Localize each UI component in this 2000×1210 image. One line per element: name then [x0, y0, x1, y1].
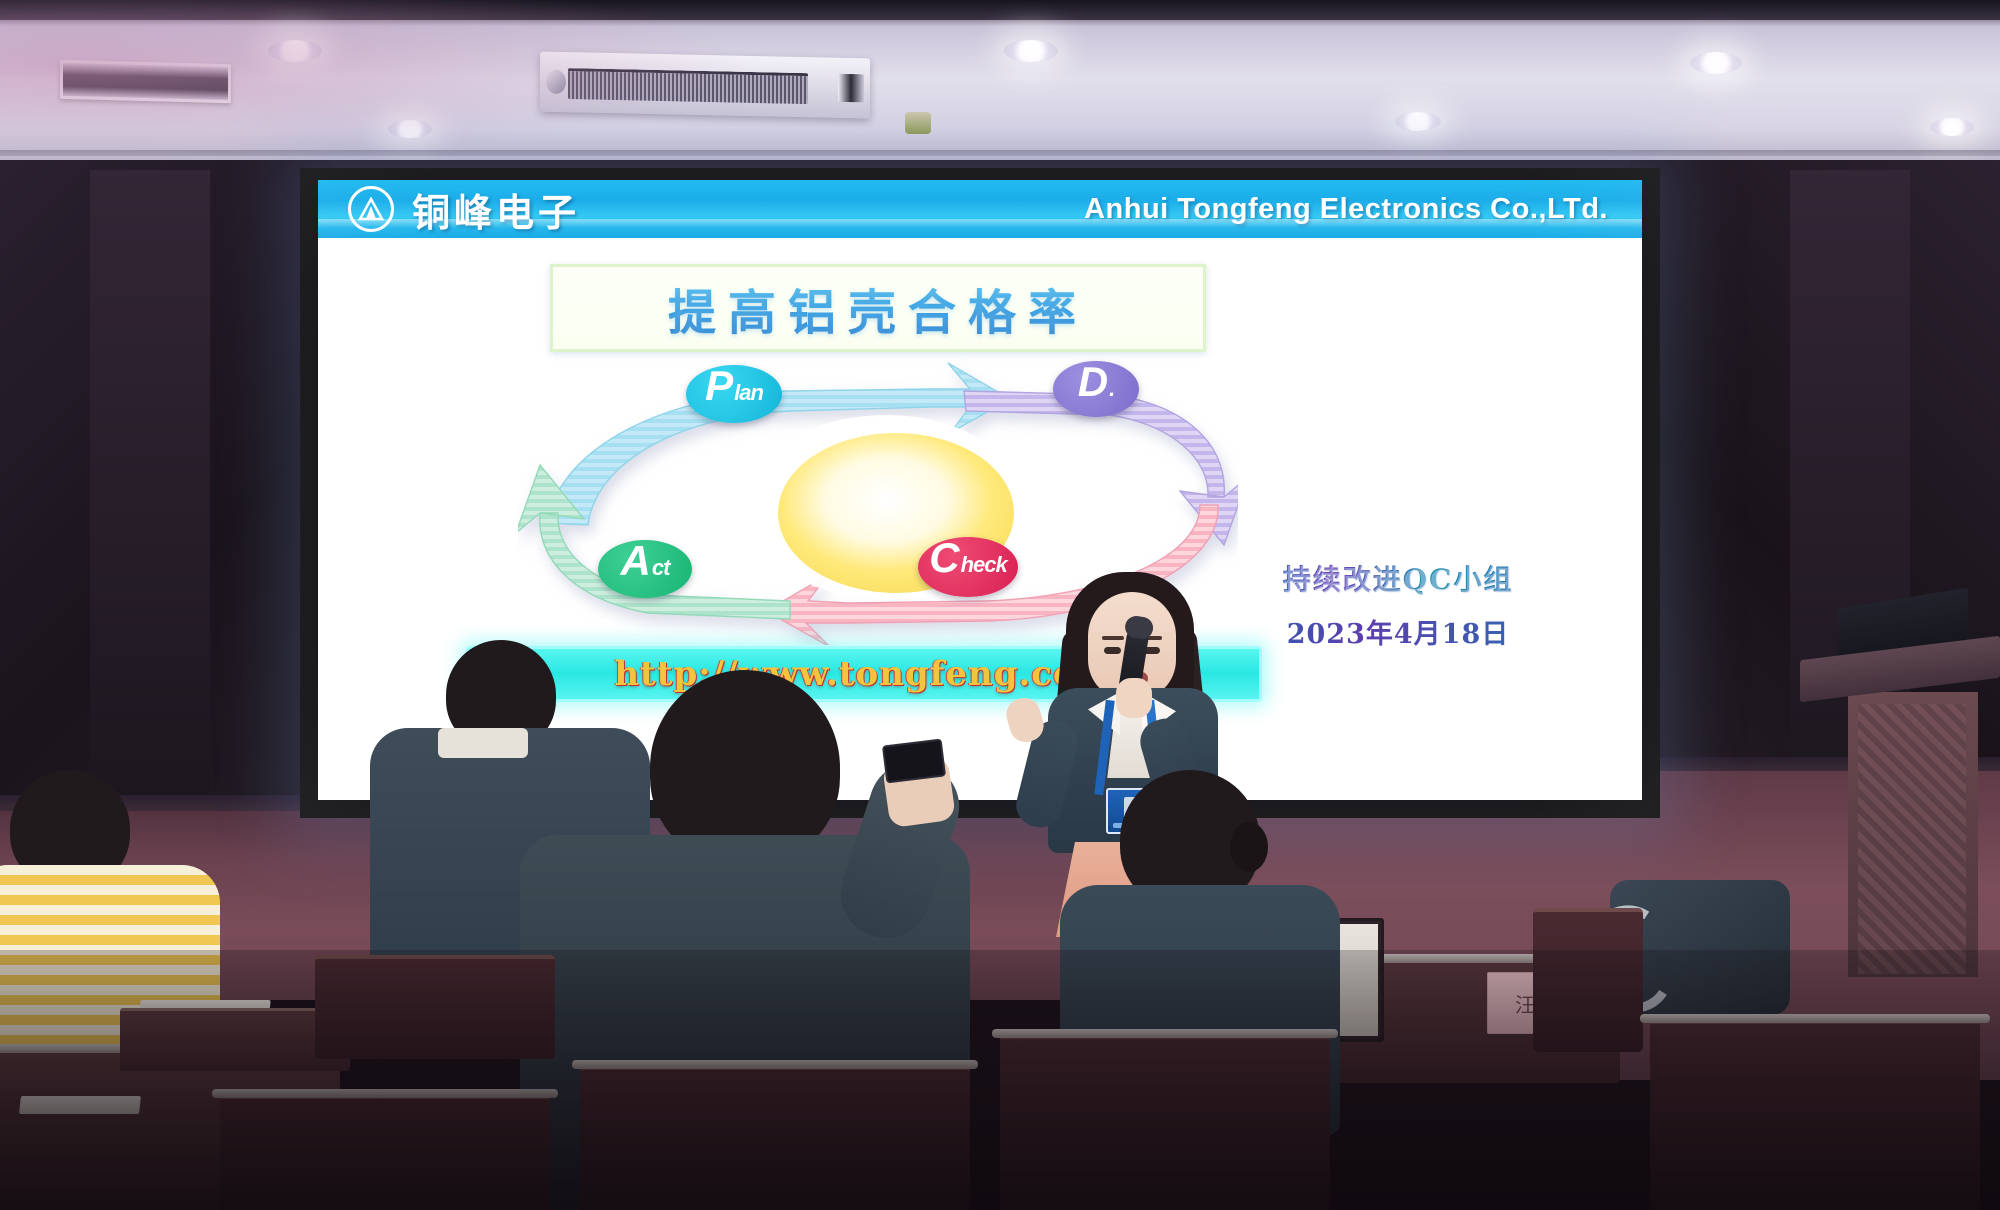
- seat-edge-front-right: [992, 1029, 1338, 1038]
- attendee-hair-tie: [1230, 822, 1268, 872]
- pdca-badge-check: C heck: [918, 537, 1018, 597]
- downlight-1: [268, 40, 322, 62]
- pdca-badge-do-letter: D: [1078, 361, 1108, 403]
- pdca-badge-act: A ct: [598, 540, 692, 598]
- downlight-5: [1690, 52, 1742, 74]
- seat-back-right-1: [1533, 908, 1643, 1052]
- seat-edge-front-center: [572, 1060, 978, 1069]
- downlight-4: [1395, 112, 1441, 131]
- presentation-photo-scene: 铜峰电子 Anhui Tongfeng Electronics Co.,LTd.…: [0, 0, 2000, 1210]
- smoke-detector: [905, 112, 931, 134]
- presenter-hand-right: [1116, 678, 1152, 718]
- pdca-badge-plan: P lan: [686, 365, 782, 423]
- slide-footer-text: 持续改进QC小组 2023年4月18日: [1233, 558, 1563, 651]
- company-name-cn: 铜峰电子: [412, 182, 580, 237]
- pdca-badge-check-rest: heck: [961, 554, 1007, 576]
- ceiling-vent: [60, 60, 231, 103]
- pdca-badge-do-rest: .: [1109, 378, 1114, 400]
- presenter-brow-left: [1102, 636, 1124, 640]
- pdca-badge-do: D .: [1053, 361, 1139, 417]
- seat-back-mid-left: [315, 955, 555, 1059]
- ceiling: [0, 0, 2000, 165]
- ceiling-seam: [0, 150, 2000, 156]
- pdca-badge-plan-letter: P: [705, 365, 733, 407]
- downlight-2: [388, 120, 432, 138]
- left-wall-strip: [90, 170, 210, 810]
- seat-back-front-center: [580, 1066, 970, 1210]
- ceiling-air-conditioner: [540, 52, 870, 119]
- downlight-6: [1930, 118, 1974, 136]
- slide-title-box: 提高铝壳合格率: [550, 264, 1206, 352]
- seat-back-front-right: [1000, 1035, 1330, 1210]
- ac-vent-left: [546, 70, 566, 94]
- ceiling-top-edge: [0, 0, 2000, 20]
- desk-edge-right-2: [1640, 1014, 1990, 1023]
- seat-back-front-left: [220, 1095, 550, 1210]
- ac-grille: [568, 68, 808, 104]
- pdca-badge-plan-rest: lan: [734, 382, 763, 404]
- ac-vent-right: [838, 74, 864, 103]
- downlight-3: [1004, 40, 1058, 62]
- smartphone-camera: [882, 738, 946, 783]
- qc-team-line: 持续改进QC小组: [1233, 558, 1563, 598]
- seat-back-right-2: [1650, 1020, 1980, 1210]
- attendee-collar: [438, 728, 528, 758]
- lectern-carving: [1858, 704, 1966, 974]
- pdca-badge-check-letter: C: [929, 537, 959, 579]
- slide-header-band: 铜峰电子 Anhui Tongfeng Electronics Co.,LTd.: [318, 180, 1642, 238]
- presenter-eye-left: [1104, 647, 1121, 654]
- company-name-en: Anhui Tongfeng Electronics Co.,LTd.: [1084, 193, 1608, 226]
- tongfeng-triangle-logo-icon: [348, 186, 394, 232]
- pdca-badge-act-rest: ct: [652, 557, 670, 579]
- paper-front-left: [19, 1096, 141, 1114]
- presentation-date: 2023年4月18日: [1233, 612, 1563, 651]
- lectern: [1800, 648, 2000, 978]
- slide-title: 提高铝壳合格率: [668, 273, 1088, 343]
- pdca-badge-act-letter: A: [621, 540, 651, 582]
- seat-edge-front-left: [212, 1089, 558, 1098]
